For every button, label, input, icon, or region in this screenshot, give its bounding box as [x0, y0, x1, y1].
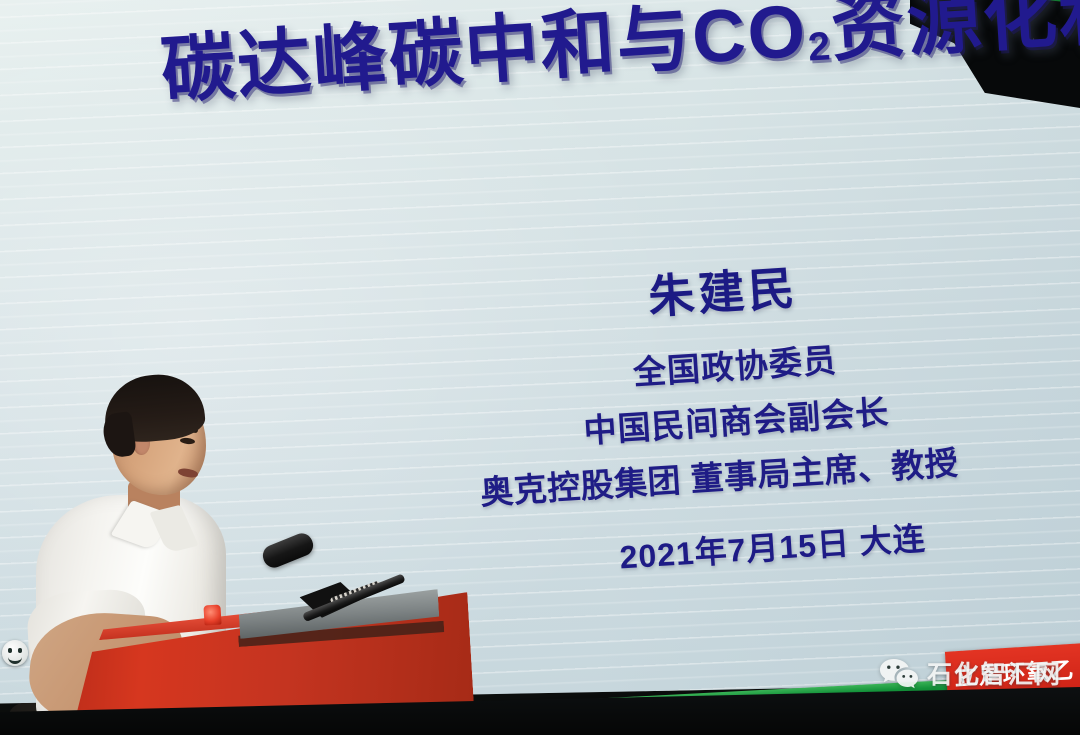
smiley-mouth: [8, 654, 22, 664]
slide-speaker-name: 朱建民: [646, 252, 800, 327]
microphone-head-icon: [260, 530, 317, 571]
watermark: 石化智汇网: [879, 655, 1062, 691]
red-indicator-light: [203, 605, 221, 626]
watermark-account-name: 石化智汇网: [927, 655, 1062, 691]
smiley-face-icon: [2, 640, 28, 666]
wechat-icon: [879, 657, 919, 689]
photo-canvas: LED 碳达峰碳中和与CO2资源化利用 朱建民 全国政协委员 中国民间商会副会长…: [0, 0, 1080, 735]
speaker-hair-sideburn: [101, 411, 137, 459]
slide-date-location: 2021年7月15日 大连: [618, 513, 927, 578]
slide-credential-3: 奥克控股集团 董事局主席、教授: [479, 436, 960, 514]
slide-credential-1: 全国政协委员: [631, 334, 838, 395]
slide-title-part-2: 资源化利用: [829, 0, 1080, 70]
slide-title: 碳达峰碳中和与CO2资源化利用: [159, 0, 1080, 115]
slide-title-part-1: 碳达峰碳中和与CO: [159, 0, 810, 112]
slide-title-subscript: 2: [807, 24, 834, 69]
speaker-and-podium: [0, 355, 470, 735]
